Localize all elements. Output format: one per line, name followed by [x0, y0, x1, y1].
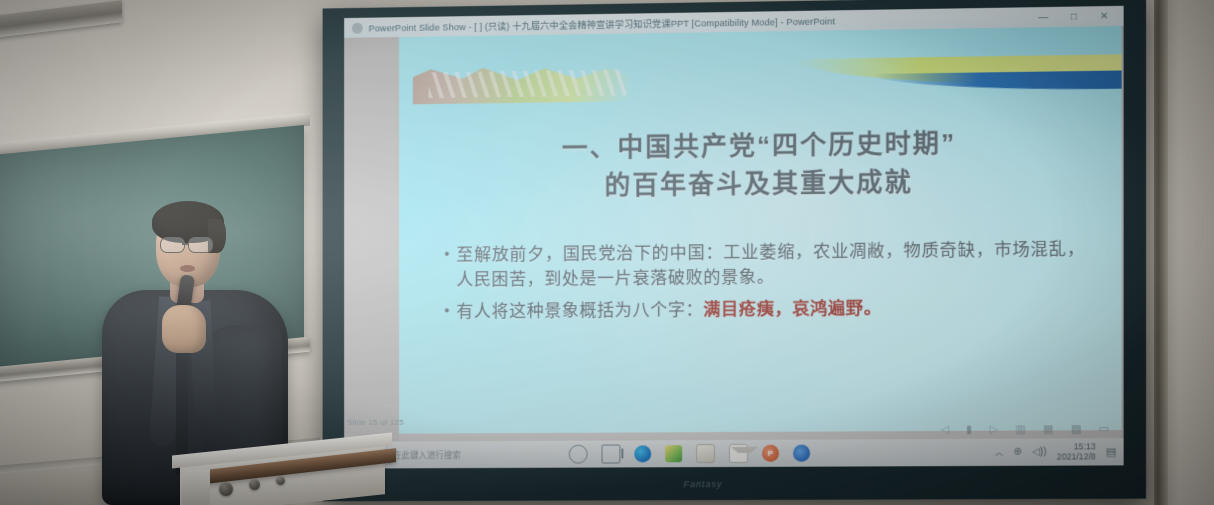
screenshot-root: PowerPoint Slide Show - [ ] (只读) 十九届六中全会…	[0, 0, 1214, 505]
room-lighting-shadow	[0, 0, 1214, 505]
